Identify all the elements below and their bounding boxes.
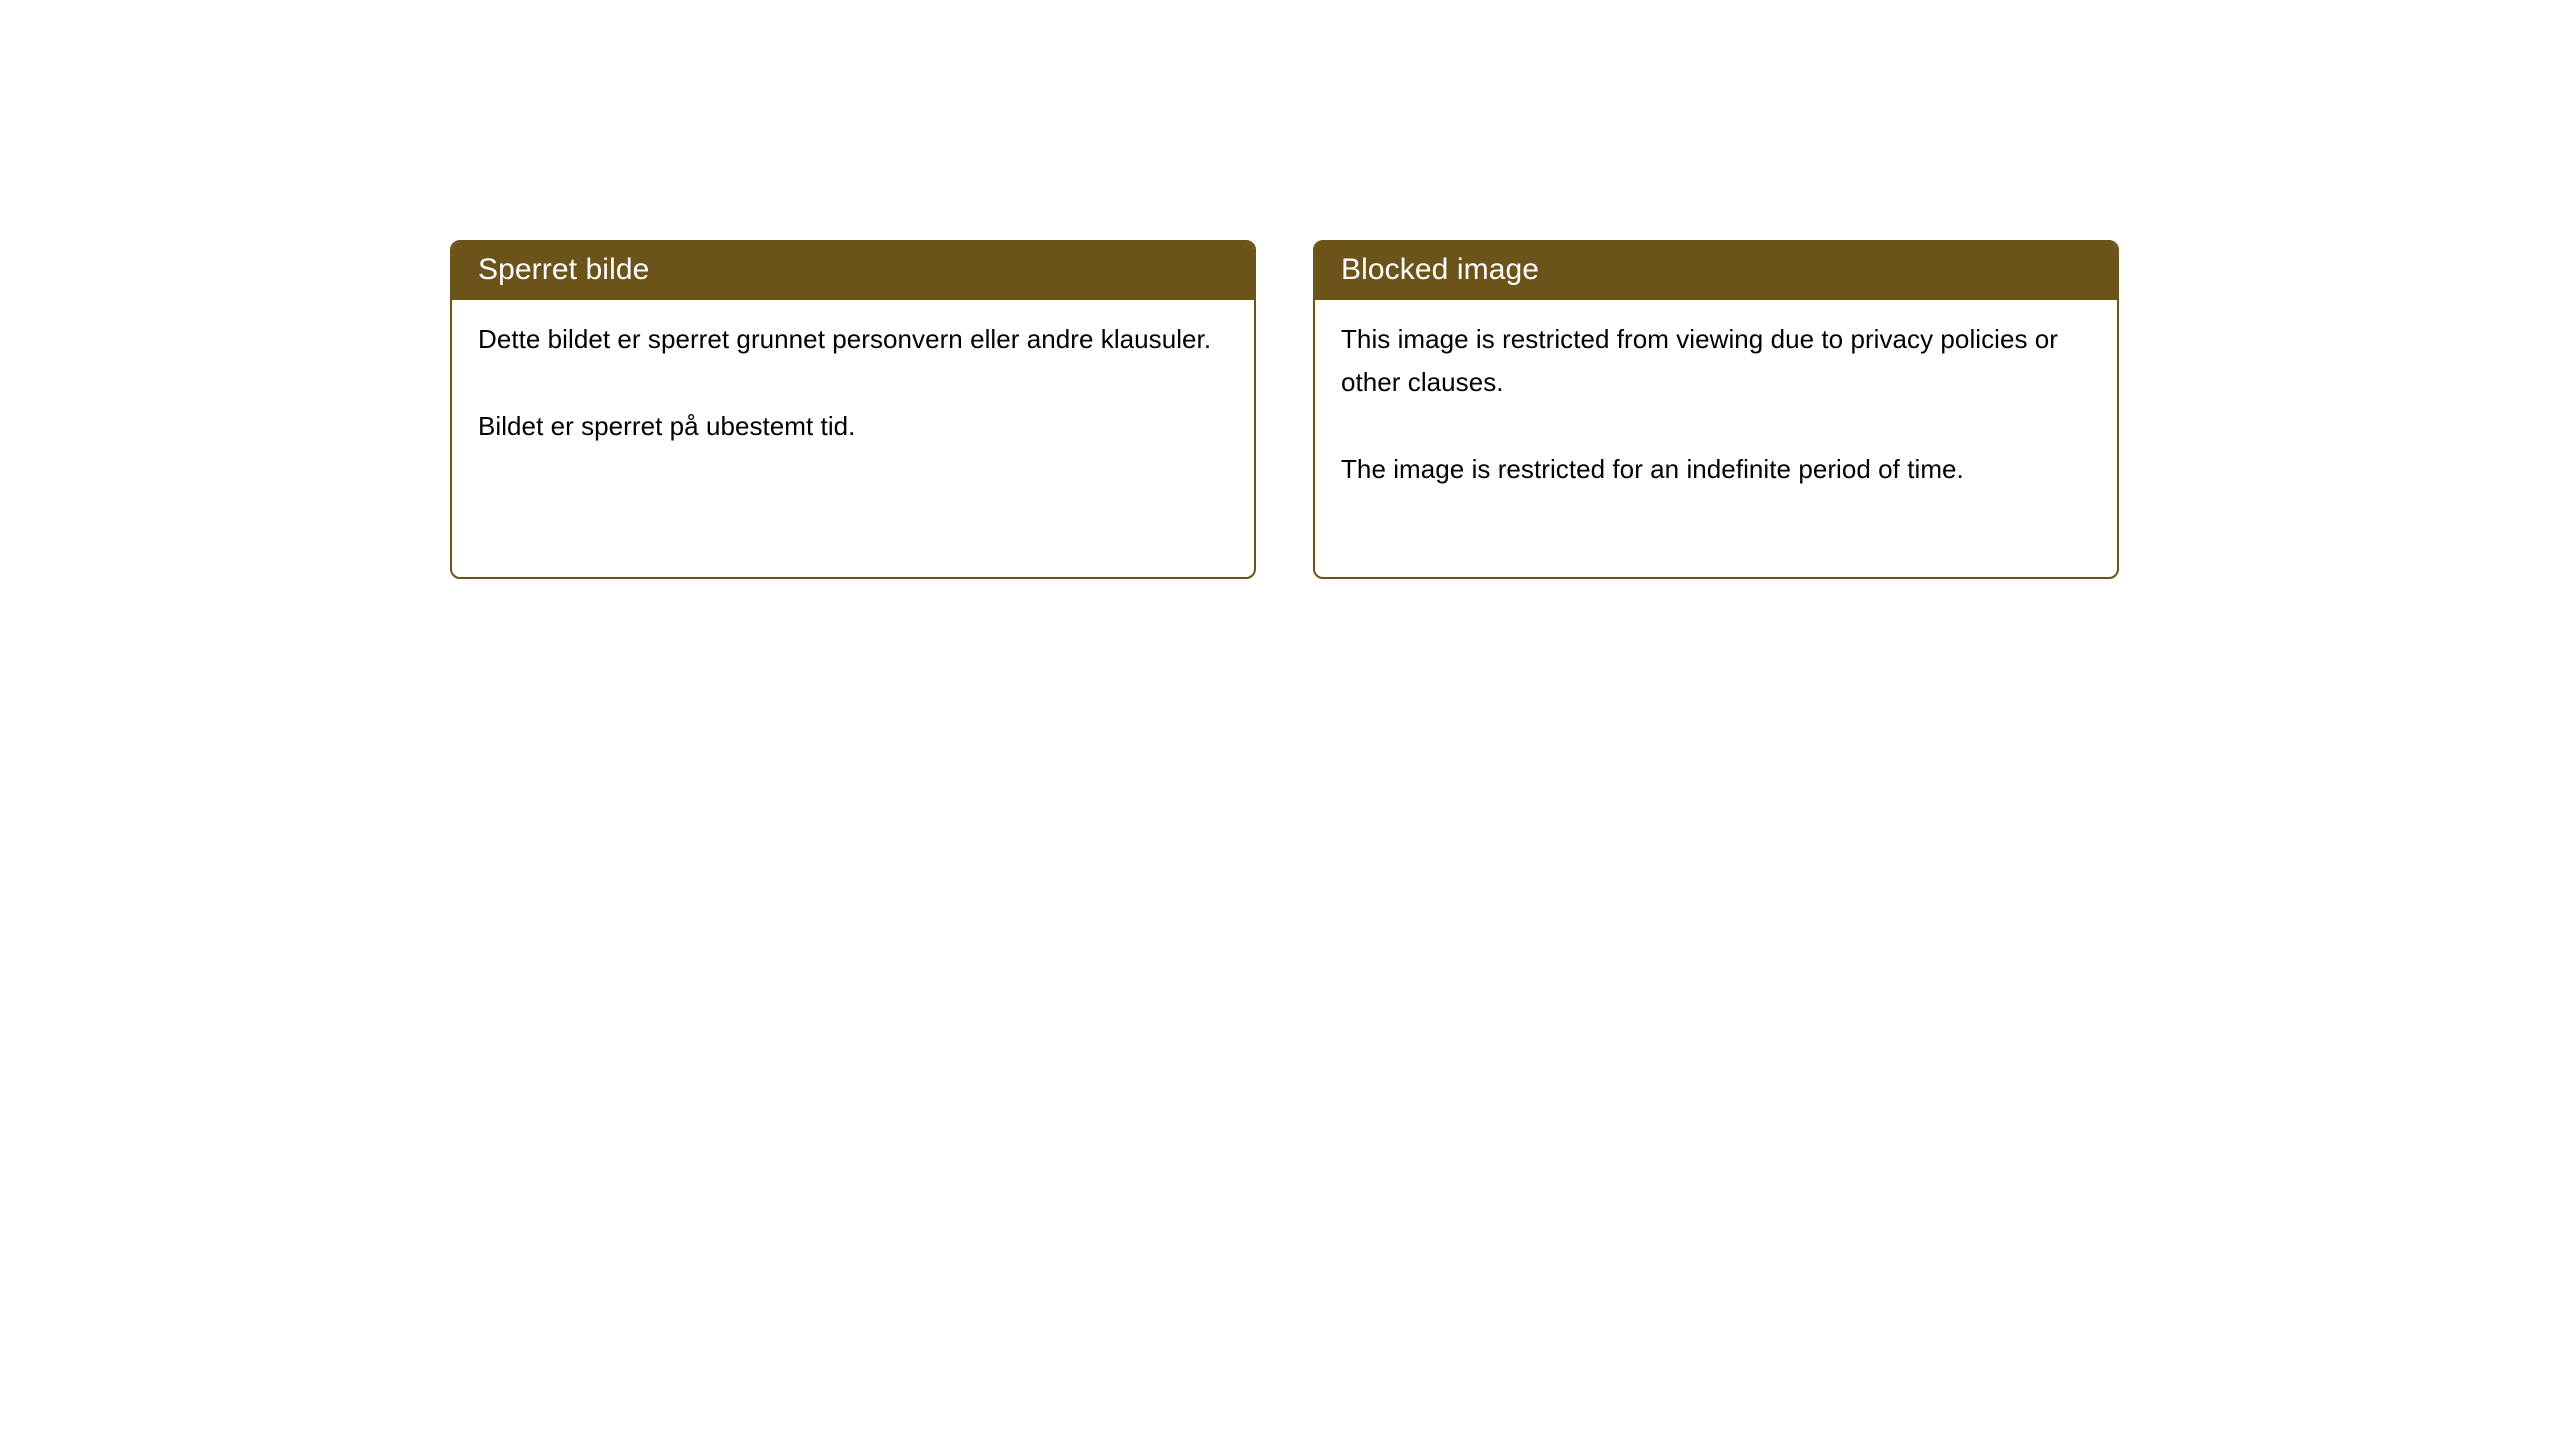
notice-paragraph-reason-norwegian: Dette bildet er sperret grunnet personve… — [478, 318, 1228, 361]
notice-title-english: Blocked image — [1341, 253, 1539, 287]
notice-title-norwegian: Sperret bilde — [478, 253, 649, 287]
blocked-image-notice-norwegian: Sperret bilde Dette bildet er sperret gr… — [450, 240, 1256, 579]
notice-header-norwegian: Sperret bilde — [450, 240, 1256, 300]
notice-body-english: This image is restricted from viewing du… — [1315, 300, 2117, 491]
notice-paragraph-reason-english: This image is restricted from viewing du… — [1341, 318, 2091, 404]
notice-body-norwegian: Dette bildet er sperret grunnet personve… — [452, 300, 1254, 448]
notice-header-english: Blocked image — [1313, 240, 2119, 300]
notice-paragraph-duration-english: The image is restricted for an indefinit… — [1341, 448, 2091, 491]
notice-paragraph-duration-norwegian: Bildet er sperret på ubestemt tid. — [478, 405, 1228, 448]
page-canvas: Sperret bilde Dette bildet er sperret gr… — [0, 0, 2560, 1440]
blocked-image-notice-english: Blocked image This image is restricted f… — [1313, 240, 2119, 579]
